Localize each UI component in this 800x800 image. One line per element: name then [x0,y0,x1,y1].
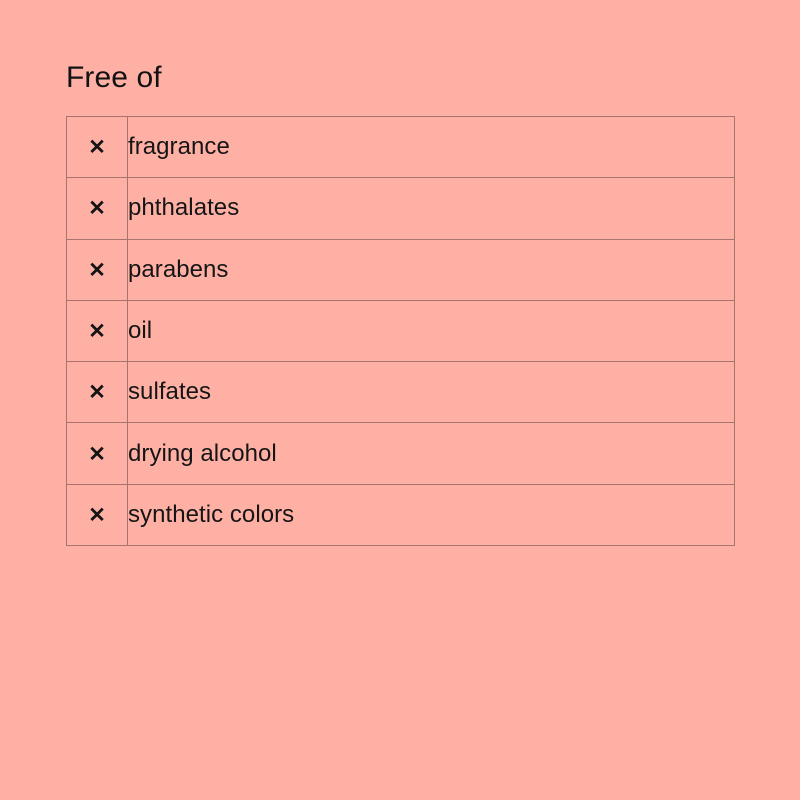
table-row: ✕ fragrance [67,117,735,178]
table-row: ✕ sulfates [67,362,735,423]
table-row: ✕ drying alcohol [67,423,735,484]
row-mark-cell: ✕ [67,178,128,239]
close-x-icon: ✕ [88,505,106,526]
row-label-cell: fragrance [128,117,735,178]
row-label-cell: drying alcohol [128,423,735,484]
row-label-cell: parabens [128,239,735,300]
close-x-icon: ✕ [88,382,106,403]
close-x-icon: ✕ [88,444,106,465]
row-label-cell: oil [128,300,735,361]
row-label-cell: synthetic colors [128,484,735,545]
table-row: ✕ synthetic colors [67,484,735,545]
row-mark-cell: ✕ [67,239,128,300]
close-x-icon: ✕ [88,260,106,281]
free-of-table: ✕ fragrance ✕ phthalates ✕ parabens ✕ [66,116,735,546]
row-label-cell: sulfates [128,362,735,423]
row-label-cell: phthalates [128,178,735,239]
table-row: ✕ phthalates [67,178,735,239]
close-x-icon: ✕ [88,198,106,219]
row-mark-cell: ✕ [67,423,128,484]
row-mark-cell: ✕ [67,117,128,178]
table-body: ✕ fragrance ✕ phthalates ✕ parabens ✕ [67,117,735,546]
close-x-icon: ✕ [88,321,106,342]
table-row: ✕ oil [67,300,735,361]
table-row: ✕ parabens [67,239,735,300]
row-mark-cell: ✕ [67,300,128,361]
row-mark-cell: ✕ [67,362,128,423]
free-of-panel: Free of ✕ fragrance ✕ phthalates ✕ parab… [0,0,800,800]
row-mark-cell: ✕ [67,484,128,545]
close-x-icon: ✕ [88,137,106,158]
page-title: Free of [66,59,162,97]
